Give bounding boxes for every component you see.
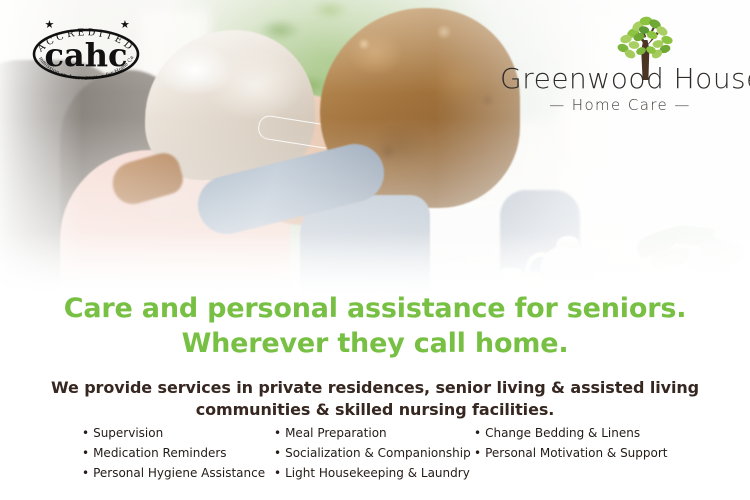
subheadline-line-2: communities & skilled nursing facilities… (0, 399, 750, 421)
bullet-icon: • (82, 446, 89, 460)
list-item: •Change Bedding & Linens (474, 424, 674, 442)
headline-line-1: Care and personal assistance for seniors… (0, 292, 750, 327)
bullet-icon: • (474, 426, 481, 440)
headline-line-2: Wherever they call home. (0, 327, 750, 362)
subheadline-line-1: We provide services in private residence… (0, 377, 750, 399)
list-item-label: Personal Motivation & Support (485, 446, 667, 460)
list-item: •Supervision (82, 424, 274, 442)
cahc-accreditation-logo: ACCREDITED ★ ★ cahc Commission on Accred… (22, 14, 150, 90)
list-item-label: Supervision (93, 426, 163, 440)
cahc-logo-icon: ACCREDITED ★ ★ cahc Commission on Accred… (22, 14, 150, 90)
services-list: •Supervision •Medication Reminders •Pers… (82, 424, 692, 483)
list-item: •Socialization & Companionship (274, 444, 474, 462)
logo-tagline: — Home Care — (500, 96, 740, 114)
bullet-icon: • (82, 466, 89, 480)
list-item: •Medication Reminders (82, 444, 274, 462)
services-column-1: •Supervision •Medication Reminders •Pers… (82, 424, 274, 483)
svg-text:★: ★ (120, 18, 130, 31)
list-item: •Personal Motivation & Support (474, 444, 674, 462)
subheadline: We provide services in private residence… (0, 377, 750, 421)
copy-block: Care and personal assistance for seniors… (0, 292, 750, 421)
list-item-label: Personal Hygiene Assistance (93, 466, 265, 480)
bullet-icon: • (274, 446, 281, 460)
bullet-icon: • (474, 446, 481, 460)
headline: Care and personal assistance for seniors… (0, 292, 750, 361)
list-item-label: Socialization & Companionship (285, 446, 471, 460)
svg-text:★: ★ (45, 18, 55, 31)
bullet-icon: • (82, 426, 89, 440)
logo-wordmark: Greenwood House (500, 62, 740, 95)
cahc-wordmark: cahc (45, 36, 128, 74)
list-item: •Personal Hygiene Assistance (82, 464, 274, 482)
bullet-icon: • (274, 466, 281, 480)
list-item: •Light Housekeeping & Laundry (274, 464, 474, 482)
list-item-label: Change Bedding & Linens (485, 426, 640, 440)
advertisement-banner: ACCREDITED ★ ★ cahc Commission on Accred… (0, 0, 750, 500)
services-column-3: •Change Bedding & Linens •Personal Motiv… (474, 424, 674, 483)
list-item-label: Meal Preparation (285, 426, 387, 440)
list-item: •Meal Preparation (274, 424, 474, 442)
list-item-label: Medication Reminders (93, 446, 226, 460)
list-item-label: Light Housekeeping & Laundry (285, 466, 470, 480)
services-column-2: •Meal Preparation •Socialization & Compa… (274, 424, 474, 483)
greenwood-house-logo[interactable]: Greenwood House — Home Care — (500, 14, 740, 114)
bullet-icon: • (274, 426, 281, 440)
